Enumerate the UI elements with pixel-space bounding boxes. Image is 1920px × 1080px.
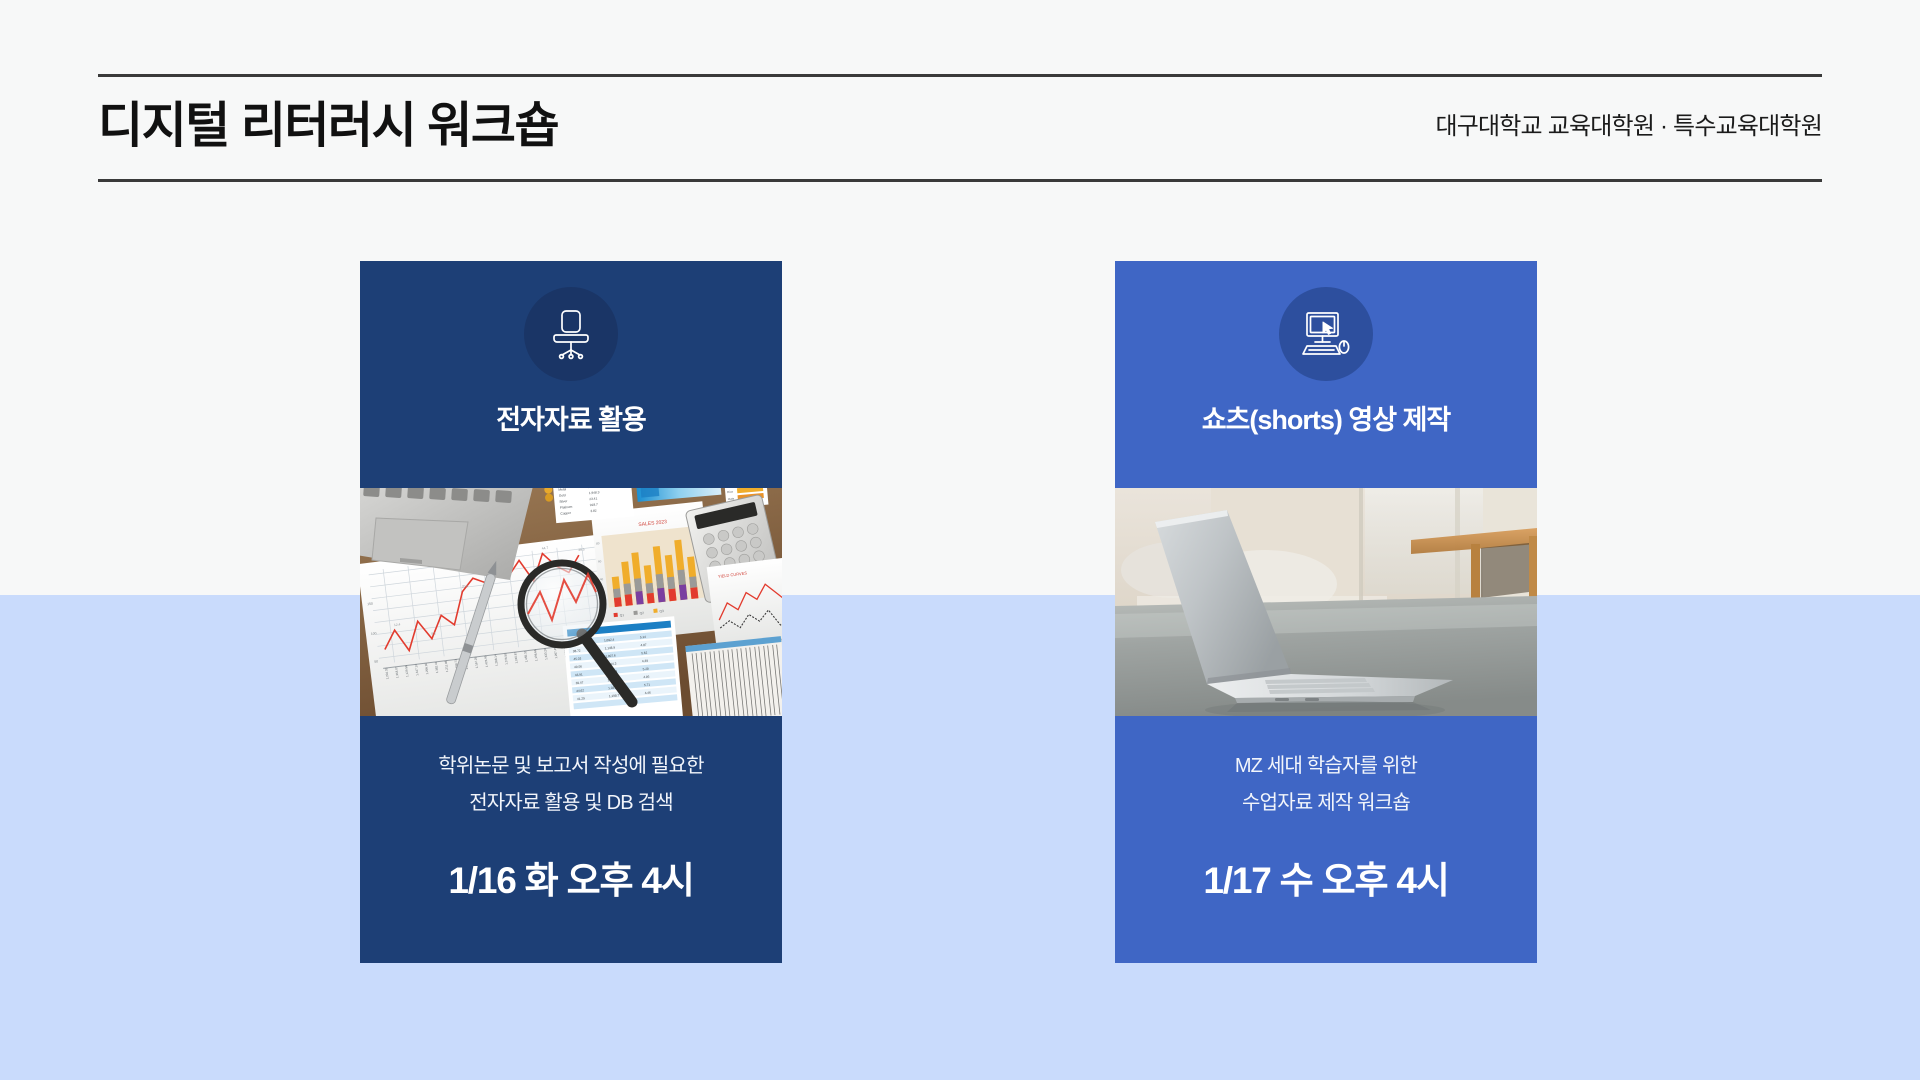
session-card-description-line2: 수업자료 제작 워크숍 xyxy=(1235,785,1417,822)
session-card[interactable]: 전자자료 활용 xyxy=(360,261,782,963)
svg-text:150: 150 xyxy=(367,602,373,607)
header-affiliation: 대구대학교 교육대학원 · 특수교육대학원 xyxy=(1435,115,1822,141)
svg-text:39.47: 39.47 xyxy=(575,680,583,685)
svg-text:Q3: Q3 xyxy=(659,609,664,613)
svg-text:23.41: 23.41 xyxy=(589,496,598,501)
session-card-title: 쇼츠(shorts) 영상 제작 xyxy=(1202,407,1451,434)
svg-text:4.95: 4.95 xyxy=(643,675,650,680)
office-chair-icon xyxy=(524,287,618,381)
svg-text:12.4: 12.4 xyxy=(394,622,401,627)
svg-text:Gold: Gold xyxy=(559,493,566,498)
svg-text:44.7: 44.7 xyxy=(542,546,549,551)
svg-text:4.46: 4.46 xyxy=(645,691,652,696)
svg-text:4.87: 4.87 xyxy=(640,643,647,648)
laptop-on-desk-photo xyxy=(1115,488,1537,716)
session-card-head: 쇼츠(shorts) 영상 제작 xyxy=(1115,261,1537,488)
svg-text:45.03: 45.03 xyxy=(573,656,581,661)
svg-text:8.1: 8.1 xyxy=(431,631,436,636)
svg-text:50: 50 xyxy=(374,659,378,663)
svg-text:43.91: 43.91 xyxy=(575,672,583,677)
svg-text:4.39: 4.39 xyxy=(642,659,649,664)
svg-text:5.28: 5.28 xyxy=(642,667,649,672)
session-card-body: MZ 세대 학습자를 위한 수업자료 제작 워크숍 1/17 수 오후 4시 xyxy=(1115,716,1537,963)
session-card-description: MZ 세대 학습자를 위한 수업자료 제작 워크숍 xyxy=(1235,748,1417,822)
svg-text:Q1: Q1 xyxy=(620,613,625,617)
page-title: 디지털 리터러시 워크숍 xyxy=(98,102,558,155)
svg-text:918.7: 918.7 xyxy=(590,502,599,507)
session-card-description-line1: MZ 세대 학습자를 위한 xyxy=(1235,748,1417,785)
session-card-title: 전자자료 활용 xyxy=(496,407,646,434)
svg-text:3.82: 3.82 xyxy=(590,509,597,514)
svg-text:40.56: 40.56 xyxy=(574,664,582,669)
svg-text:5.71: 5.71 xyxy=(644,683,651,688)
session-card-date: 1/17 수 오후 4시 xyxy=(1203,862,1448,899)
svg-text:20.6: 20.6 xyxy=(462,584,469,589)
svg-text:Silver: Silver xyxy=(559,499,568,504)
svg-text:5.62: 5.62 xyxy=(641,651,648,656)
poster-page: 디지털 리터러시 워크숍 대구대학교 교육대학원 · 특수교육대학원 xyxy=(0,0,1920,1080)
desktop-computer-cursor-icon xyxy=(1279,287,1373,381)
svg-text:41.29: 41.29 xyxy=(577,696,585,701)
session-card-head: 전자자료 활용 xyxy=(360,261,782,488)
svg-text:100: 100 xyxy=(371,631,377,636)
poster-header: 디지털 리터러시 워크숍 대구대학교 교육대학원 · 특수교육대학원 xyxy=(98,74,1822,182)
svg-text:5.14: 5.14 xyxy=(640,635,647,640)
desk-with-charts-magnifier-calculator-photo: 12.48.1 20.631.2 44.739.5 150100 50 xyxy=(360,488,782,716)
svg-text:Rice: Rice xyxy=(727,490,734,495)
svg-text:Q2: Q2 xyxy=(639,611,644,615)
session-card-date: 1/16 화 오후 4시 xyxy=(448,862,693,899)
session-card-description-line2: 전자자료 활용 및 DB 검색 xyxy=(438,785,703,822)
session-card-description-line1: 학위논문 및 보고서 작성에 필요한 xyxy=(438,748,703,785)
session-card-description: 학위논문 및 보고서 작성에 필요한 전자자료 활용 및 DB 검색 xyxy=(438,748,703,822)
session-card-body: 학위논문 및 보고서 작성에 필요한 전자자료 활용 및 DB 검색 1/16 … xyxy=(360,716,782,963)
session-card[interactable]: 쇼츠(shorts) 영상 제작 xyxy=(1115,261,1537,963)
svg-text:39.5: 39.5 xyxy=(578,547,585,552)
svg-text:38.72: 38.72 xyxy=(573,649,581,654)
svg-text:44.62: 44.62 xyxy=(576,688,584,693)
background-blue-band xyxy=(0,595,1920,1080)
